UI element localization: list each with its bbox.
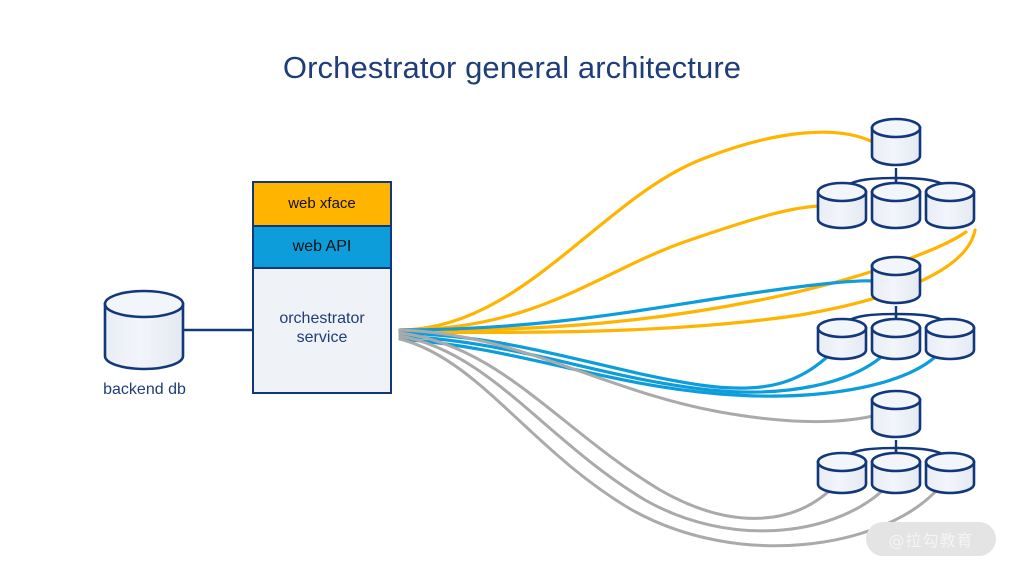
watermark: @拉勾教育 — [866, 522, 996, 556]
cluster-middle-replica-2 — [872, 319, 920, 359]
cluster-middle-master — [872, 257, 920, 303]
stack-layer-web-xface-label: web xface — [288, 195, 356, 212]
stack-layer-web-api-label: web API — [293, 238, 352, 256]
link-top-master — [400, 132, 873, 330]
cluster-bottom-master — [872, 391, 920, 437]
link-top-replica-1 — [400, 206, 818, 330]
links-cluster-bottom — [400, 330, 935, 546]
cluster-top-replica-3 — [926, 183, 974, 228]
cluster-top-master — [872, 119, 920, 165]
architecture-diagram — [0, 0, 1024, 576]
cluster-bottom — [818, 391, 974, 493]
stack-layer-web-xface[interactable]: web xface — [254, 183, 390, 227]
orchestrator-stack: web xface web API orchestrator service — [252, 181, 392, 394]
orchestrator-service-label-line1: orchestrator — [279, 310, 364, 328]
stack-layer-orchestrator-service[interactable]: orchestrator service — [254, 269, 390, 392]
cluster-middle-replica-1 — [818, 319, 866, 359]
orchestrator-service-label-line2: service — [279, 329, 364, 347]
stack-layer-web-api[interactable]: web API — [254, 227, 390, 269]
link-bot-replica-2 — [400, 336, 881, 531]
cluster-bottom-replica-2 — [872, 453, 920, 493]
slide-canvas: Orchestrator general architecture — [0, 0, 1024, 576]
cluster-top-replica-1 — [818, 183, 866, 228]
cluster-bottom-replica-1 — [818, 453, 866, 493]
cluster-middle-replica-3 — [926, 319, 974, 359]
cluster-top-replica-2 — [872, 183, 920, 228]
backend-db-cylinder — [105, 291, 183, 369]
cluster-bottom-replica-3 — [926, 453, 974, 493]
backend-db-label: backend db — [72, 381, 217, 399]
cluster-top — [818, 119, 974, 228]
